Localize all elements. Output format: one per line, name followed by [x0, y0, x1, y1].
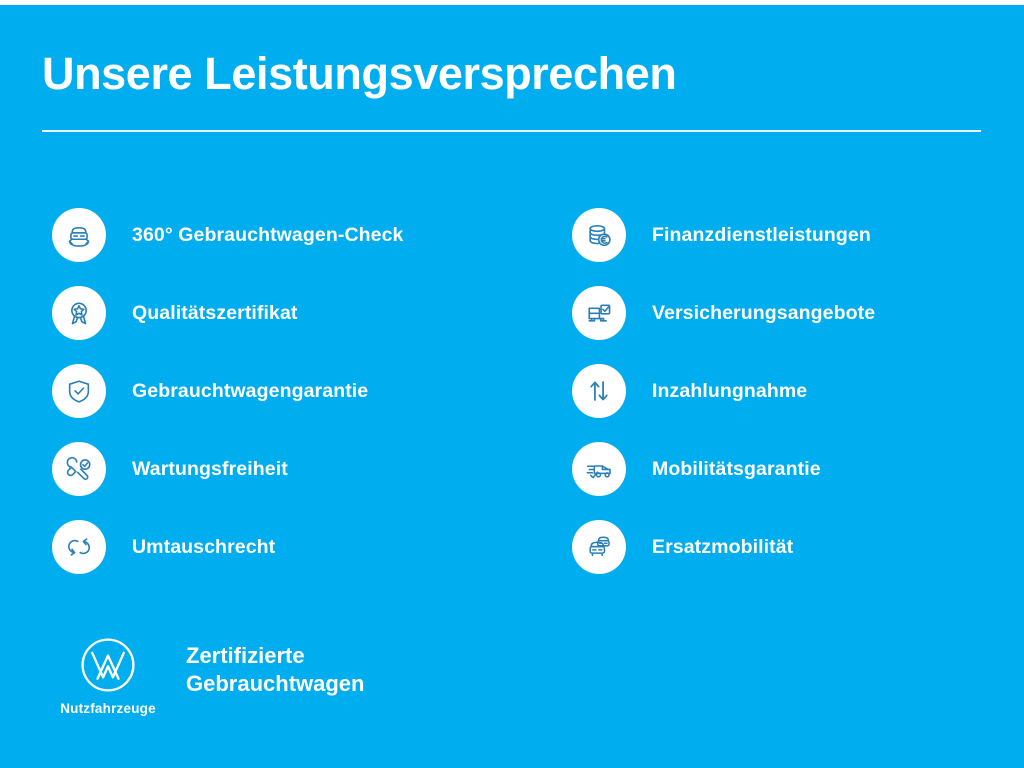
list-item[interactable]: Umtauschrecht [52, 508, 512, 586]
list-item-label: Ersatzmobilität [652, 536, 793, 559]
list-item[interactable]: Ersatzmobilität [572, 508, 1024, 586]
vw-wordmark: Nutzfahrzeuge [60, 701, 156, 716]
list-item-label: Wartungsfreiheit [132, 458, 288, 481]
list-item-label: Finanzdienstleistungen [652, 224, 871, 247]
list-item[interactable]: Qualitätszertifikat [52, 274, 512, 352]
exchange-arrows-icon [52, 520, 106, 574]
shield-check-icon [52, 364, 106, 418]
title-divider [42, 130, 981, 132]
list-item-label: Gebrauchtwagengarantie [132, 380, 368, 403]
arrows-up-down-icon [572, 364, 626, 418]
list-item[interactable]: Wartungsfreiheit [52, 430, 512, 508]
list-item[interactable]: 360° Gebrauchtwagen-Check [52, 196, 512, 274]
features-grid: 360° Gebrauchtwagen-Check Qualitätszerti… [0, 196, 1024, 586]
top-white-strip [0, 0, 1024, 5]
award-rosette-icon [52, 286, 106, 340]
list-item[interactable]: Inzahlungnahme [572, 352, 1024, 430]
features-left-column: 360° Gebrauchtwagen-Check Qualitätszerti… [52, 196, 512, 586]
van-speed-icon [572, 442, 626, 496]
slide-canvas: Unsere Leistungsversprechen 360° Gebrauc… [0, 0, 1024, 768]
list-item-label: Inzahlungnahme [652, 380, 807, 403]
van-checkbox-icon [572, 286, 626, 340]
two-cars-icon [572, 520, 626, 574]
coins-euro-icon [572, 208, 626, 262]
footer-brand-block: Nutzfahrzeuge Zertifizierte Gebrauchtwag… [52, 636, 364, 716]
wrench-check-icon [52, 442, 106, 496]
list-item-label: Umtauschrecht [132, 536, 275, 559]
footer-claim-line-1: Zertifizierte [186, 642, 364, 670]
list-item-label: Qualitätszertifikat [132, 302, 298, 325]
features-right-column: Finanzdienstleistungen [572, 196, 1024, 586]
vw-brand-lockup: Nutzfahrzeuge [52, 636, 164, 716]
list-item[interactable]: Versicherungsangebote [572, 274, 1024, 352]
list-item-label: Mobilitätsgarantie [652, 458, 821, 481]
list-item[interactable]: Finanzdienstleistungen [572, 196, 1024, 274]
list-item[interactable]: Mobilitätsgarantie [572, 430, 1024, 508]
car-360-check-icon [52, 208, 106, 262]
footer-claim: Zertifizierte Gebrauchtwagen [186, 642, 364, 698]
list-item-label: Versicherungsangebote [652, 302, 875, 325]
list-item[interactable]: Gebrauchtwagengarantie [52, 352, 512, 430]
list-item-label: 360° Gebrauchtwagen-Check [132, 224, 403, 247]
footer-claim-line-2: Gebrauchtwagen [186, 670, 364, 698]
vw-logo-icon [79, 636, 137, 694]
page-title: Unsere Leistungsversprechen [42, 50, 676, 97]
